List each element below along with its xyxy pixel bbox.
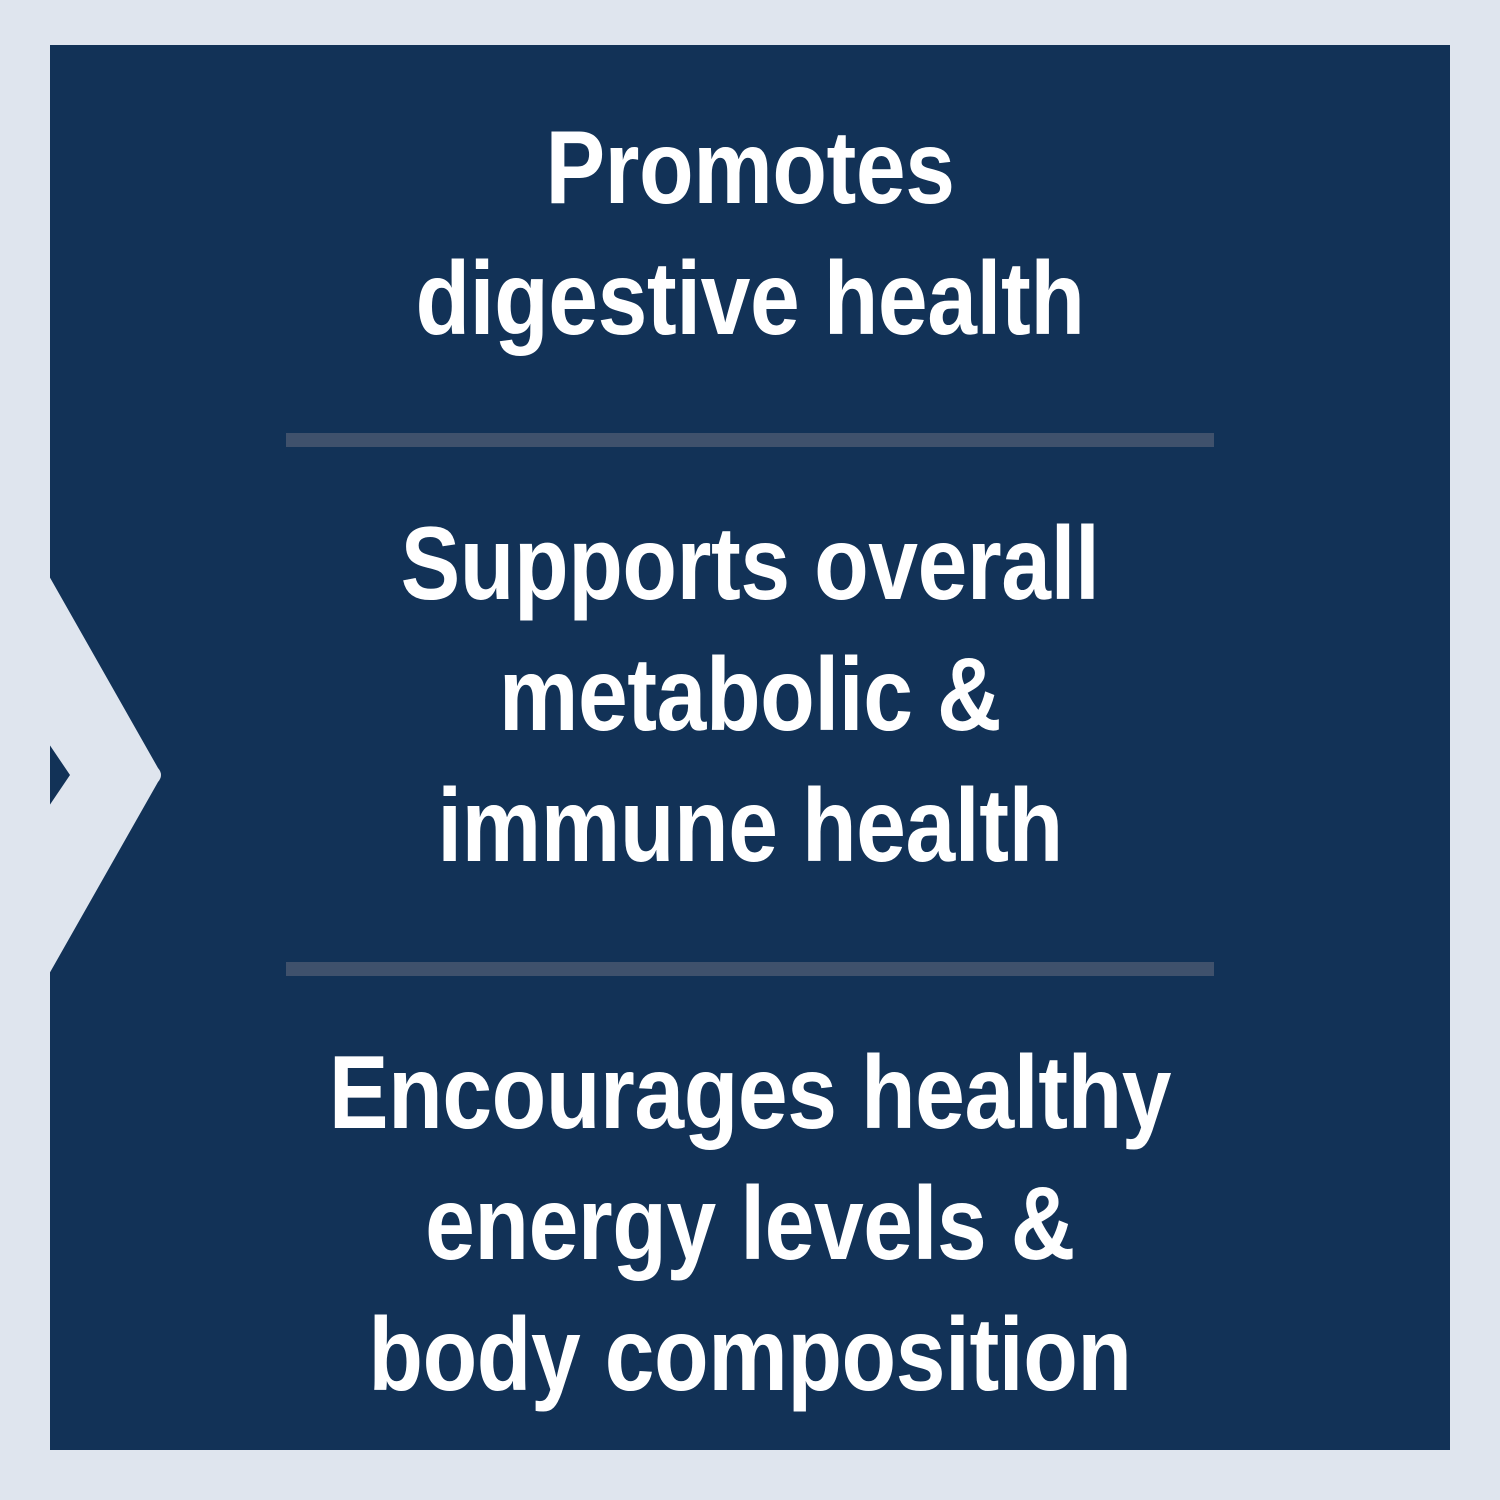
product-benefits-graphic: Promotes digestive health Supports overa… bbox=[0, 0, 1500, 1500]
benefit-item-digestive-health: Promotes digestive health bbox=[299, 103, 1202, 365]
benefit-divider-1 bbox=[286, 433, 1214, 447]
benefit-divider-2 bbox=[286, 962, 1214, 976]
benefit-item-metabolic-immune-health: Supports overall metabolic & immune heal… bbox=[299, 499, 1202, 892]
benefit-item-energy-body-composition: Encourages healthy energy levels & body … bbox=[299, 1028, 1202, 1421]
benefits-content: Promotes digestive health Supports overa… bbox=[50, 45, 1450, 1450]
